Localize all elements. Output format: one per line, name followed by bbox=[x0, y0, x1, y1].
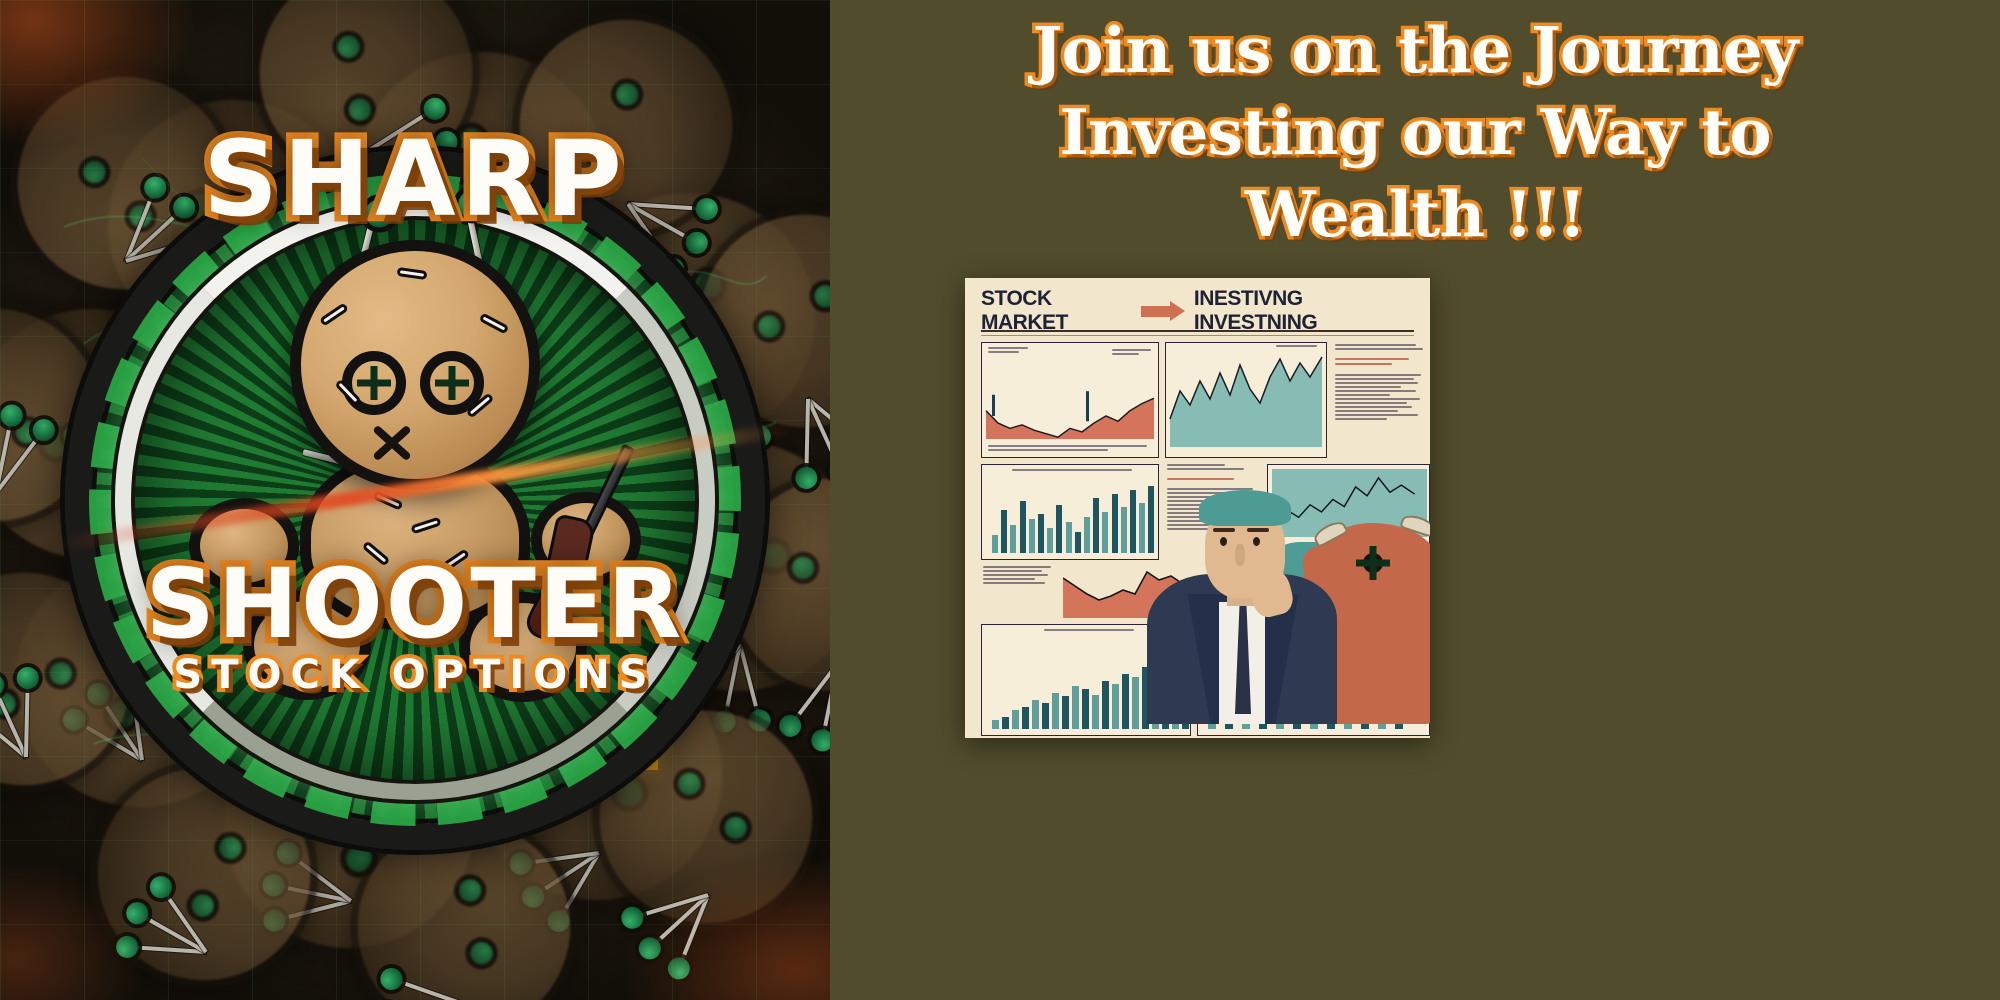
bar bbox=[1082, 689, 1089, 729]
bar-chart-1 bbox=[988, 483, 1152, 553]
bar bbox=[1010, 525, 1016, 553]
bar bbox=[1022, 707, 1029, 729]
bar bbox=[1093, 498, 1099, 553]
brand-logo-panel: SHARP SHOOTER STOCK OPTIONS bbox=[0, 0, 830, 1000]
area-chart-salmon-1 bbox=[982, 377, 1159, 439]
text-column-top-right bbox=[1333, 342, 1430, 458]
headline-line-2: Investing our Way to bbox=[830, 100, 2000, 164]
promo-panel: Join us on the Journey Investing our Way… bbox=[830, 0, 2000, 1000]
area-chart-teal-1 bbox=[1166, 351, 1327, 447]
bar bbox=[1102, 512, 1108, 553]
chart-panel-line-top bbox=[1165, 342, 1327, 458]
illustration-layer bbox=[1131, 474, 1430, 724]
infographic-grid bbox=[981, 342, 1414, 724]
bar bbox=[1121, 507, 1127, 553]
bar bbox=[1012, 710, 1019, 729]
bar bbox=[1020, 501, 1026, 553]
bar bbox=[1042, 703, 1049, 729]
poster-header: STOCK MARKET INESTIVNG INVESTNING bbox=[981, 294, 1414, 328]
bar bbox=[992, 720, 999, 729]
chart-panel-area-top bbox=[981, 342, 1159, 458]
bar bbox=[1047, 528, 1053, 553]
header-rule bbox=[981, 330, 1414, 332]
bar bbox=[1102, 681, 1109, 729]
headline-line-1: Join us on the Journey bbox=[830, 18, 2000, 82]
bar bbox=[1052, 693, 1059, 729]
bar bbox=[1112, 684, 1119, 729]
stock-market-infographic-poster: STOCK MARKET INESTIVNG INVESTNING bbox=[965, 278, 1430, 738]
poster-canvas: SHARP SHOOTER STOCK OPTIONS Join us on t… bbox=[0, 0, 2000, 1000]
headline-line-3: Wealth !!! bbox=[830, 182, 2000, 246]
poster-title: STOCK MARKET bbox=[981, 287, 1132, 335]
poster-subtitle: INESTIVNG INVESTNING bbox=[1194, 287, 1414, 335]
brand-name-line-1: SHARP bbox=[0, 118, 830, 240]
bar bbox=[1062, 696, 1069, 729]
bar bbox=[1001, 510, 1007, 553]
bar bbox=[1066, 522, 1072, 553]
header-rule-secondary bbox=[981, 335, 1414, 336]
brand-tagline: STOCK OPTIONS bbox=[0, 652, 830, 698]
bar bbox=[1029, 519, 1035, 553]
bar bbox=[1032, 700, 1039, 729]
bar bbox=[1038, 514, 1044, 553]
brand-name-line-2: SHOOTER bbox=[0, 548, 830, 660]
bar bbox=[992, 535, 998, 553]
bar bbox=[1072, 686, 1079, 729]
bar bbox=[1056, 505, 1062, 553]
bar bbox=[1122, 674, 1129, 729]
bar bbox=[1075, 532, 1081, 553]
businessman-illustration bbox=[1147, 492, 1337, 724]
bar bbox=[1112, 494, 1118, 553]
right-arrow-icon bbox=[1141, 302, 1185, 320]
bar bbox=[1002, 717, 1009, 729]
bar bbox=[1092, 695, 1099, 729]
bar bbox=[1084, 517, 1090, 553]
legend-block bbox=[981, 566, 1059, 618]
